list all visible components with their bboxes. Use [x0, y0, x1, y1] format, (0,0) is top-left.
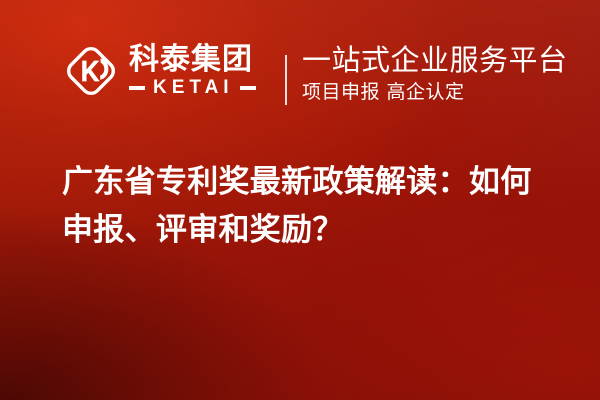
brand-name-en-row: KETAI	[129, 78, 256, 97]
brand-logo[interactable]: 科泰集团 KETAI	[62, 42, 256, 100]
dash-left-icon	[129, 86, 145, 90]
brand-name-cn: 科泰集团	[129, 45, 256, 75]
banner-header: 科泰集团 KETAI 一站式企业服务平台 项目申报 高企认定	[0, 0, 600, 135]
tagline-block: 一站式企业服务平台 项目申报 高企认定	[302, 44, 568, 105]
dash-right-icon	[240, 86, 256, 90]
tagline-secondary: 项目申报 高企认定	[302, 81, 568, 105]
brand-wordmark: 科泰集团 KETAI	[129, 45, 256, 97]
promo-banner: 科泰集团 KETAI 一站式企业服务平台 项目申报 高企认定 广东省专利奖最新政…	[0, 0, 600, 400]
ketai-diamond-monogram-icon	[62, 42, 120, 100]
vertical-divider-icon	[285, 55, 287, 105]
tagline-primary: 一站式企业服务平台	[302, 44, 568, 76]
page-title: 广东省专利奖最新政策解读：如何申报、评审和奖励？	[62, 158, 562, 254]
brand-name-en: KETAI	[145, 78, 240, 97]
